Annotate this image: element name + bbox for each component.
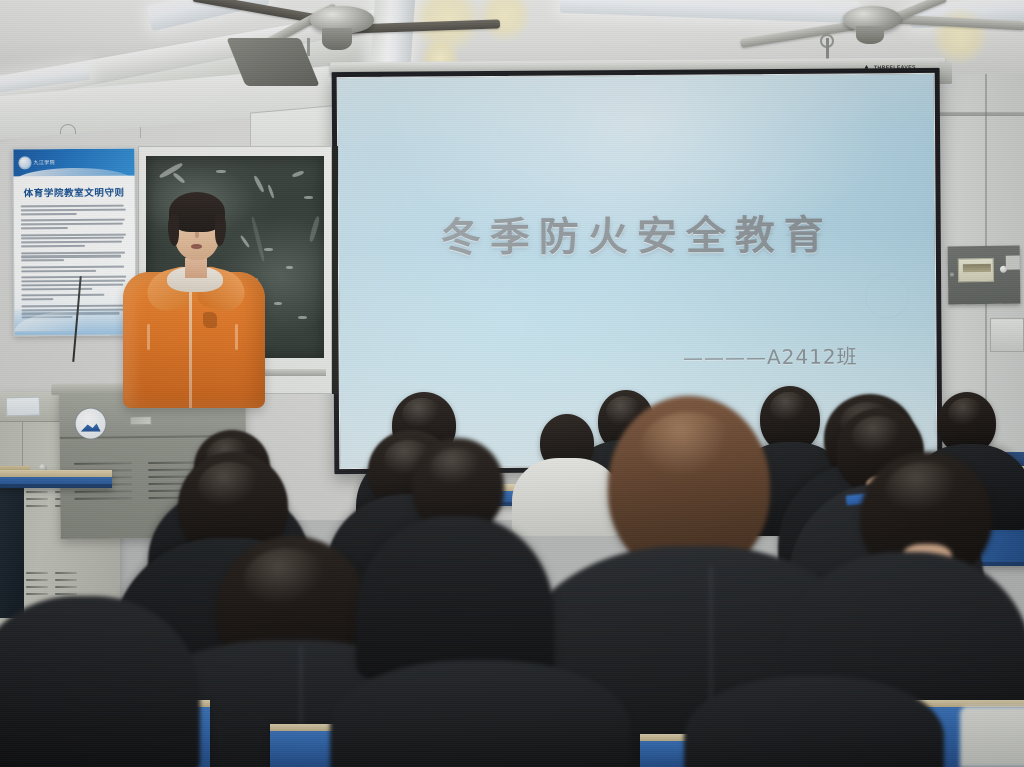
breaker-slot bbox=[963, 264, 991, 272]
slide-subtitle: ————A2412班 bbox=[683, 340, 858, 370]
poster-org-label: 九江学院 bbox=[33, 159, 55, 166]
paper-sheet bbox=[960, 706, 1024, 767]
slide-title: 冬季防火安全教育 bbox=[339, 202, 935, 264]
lectern-nameplate bbox=[130, 416, 152, 425]
presenter-hair-left bbox=[168, 214, 179, 246]
jacket-zipper bbox=[189, 282, 192, 408]
ceiling-hook-rod bbox=[307, 38, 310, 56]
presenter-jacket bbox=[123, 272, 265, 408]
breaker-box bbox=[958, 258, 994, 283]
university-crest-icon bbox=[75, 408, 105, 438]
panel-plate bbox=[1006, 255, 1020, 269]
poster-header: 九江学院 bbox=[13, 149, 134, 177]
ceiling-hook-rod bbox=[826, 38, 829, 60]
poster-title: 体育学院教室文明守则 bbox=[14, 185, 135, 200]
jacket-pocket-left bbox=[147, 324, 150, 350]
notice-poster: 九江学院 体育学院教室文明守则 bbox=[12, 148, 136, 337]
jacket-logo-icon bbox=[203, 312, 217, 328]
panel-screw bbox=[950, 272, 954, 276]
nose bbox=[195, 231, 199, 238]
electrical-panel bbox=[948, 246, 1021, 305]
presenter-neck bbox=[185, 258, 207, 278]
wall-outlet-box bbox=[990, 318, 1024, 352]
cabinet-sticker bbox=[6, 397, 40, 417]
jacket-pocket-right bbox=[235, 324, 238, 350]
classroom-photo: THREELEAVES 冬季防火安全教育 冬季防火安全教育 ————A2412班 bbox=[0, 0, 1024, 767]
desk bbox=[0, 470, 112, 488]
fan-motor bbox=[322, 28, 352, 50]
fan-motor bbox=[856, 26, 884, 44]
university-logo-icon bbox=[19, 157, 30, 168]
slide-watermark bbox=[865, 274, 909, 318]
wall-hook-icon bbox=[60, 124, 76, 134]
poster-body bbox=[14, 199, 136, 319]
dark-shelf bbox=[0, 478, 24, 618]
screen-sheen bbox=[337, 73, 639, 469]
mouth bbox=[191, 244, 202, 249]
